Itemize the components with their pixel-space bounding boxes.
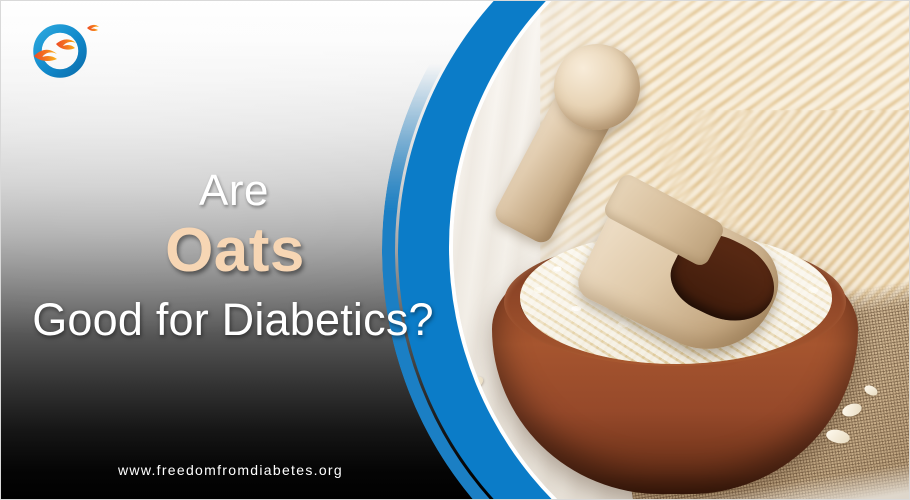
- logo-bird-small: [87, 25, 99, 31]
- promo-banner: Are Oats Good for Diabetics? www.freedom…: [0, 0, 910, 500]
- website-url[interactable]: www.freedomfromdiabetes.org: [118, 462, 343, 478]
- brand-logo[interactable]: [26, 18, 112, 80]
- blue-arc-stroke: [382, 0, 910, 500]
- logo-icon: [26, 18, 112, 80]
- logo-bird-middle: [56, 39, 76, 49]
